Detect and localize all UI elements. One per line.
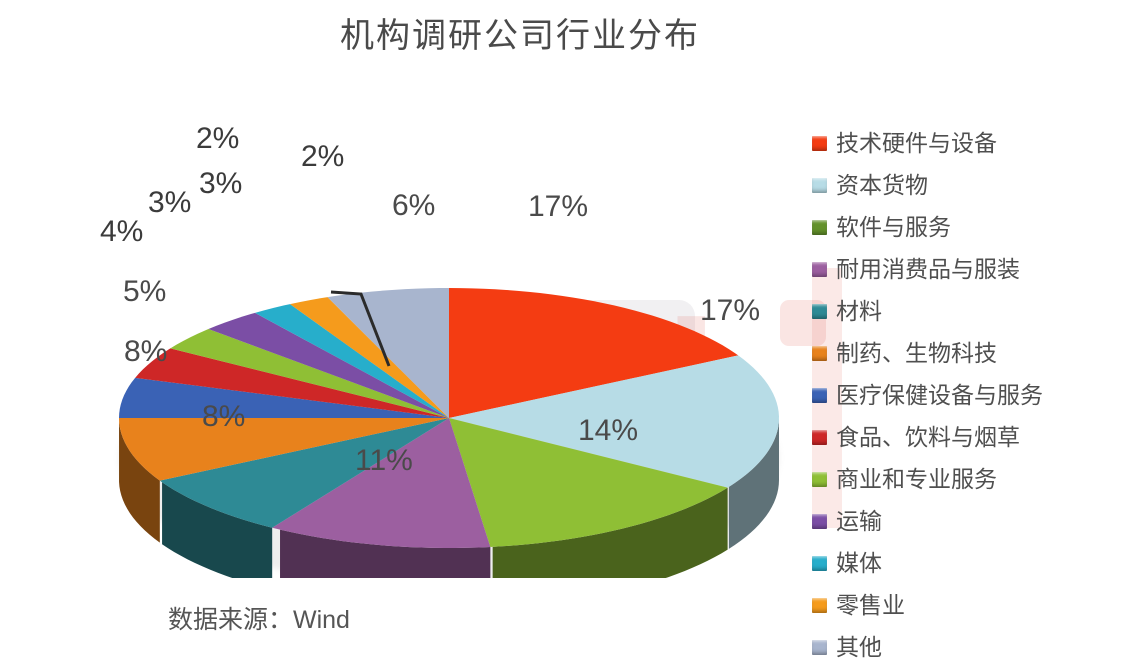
legend-item[interactable]: 零售业 xyxy=(812,584,1132,626)
legend-swatch-icon xyxy=(812,514,827,529)
legend-swatch-icon xyxy=(812,220,827,235)
legend-item-label: 耐用消费品与服装 xyxy=(836,258,1020,281)
legend-item-label: 商业和专业服务 xyxy=(836,468,997,491)
legend-item-label: 医疗保健设备与服务 xyxy=(836,384,1043,407)
legend-item-label: 技术硬件与设备 xyxy=(836,132,997,155)
legend-item[interactable]: 制药、生物科技 xyxy=(812,332,1132,374)
slice-percent-label: 8% xyxy=(202,400,245,434)
legend-swatch-icon xyxy=(812,136,827,151)
slice-percent-label: 6% xyxy=(392,189,435,223)
legend-item-label: 资本货物 xyxy=(836,174,928,197)
legend-swatch-icon xyxy=(812,178,827,193)
legend-swatch-icon xyxy=(812,262,827,277)
legend-item[interactable]: 技术硬件与设备 xyxy=(812,122,1132,164)
legend-swatch-icon xyxy=(812,556,827,571)
legend-item[interactable]: 软件与服务 xyxy=(812,206,1132,248)
legend-item-label: 媒体 xyxy=(836,552,882,575)
source-note: 数据来源：Wind xyxy=(168,600,350,636)
legend-swatch-icon xyxy=(812,388,827,403)
legend-item-label: 软件与服务 xyxy=(836,216,951,239)
legend-item[interactable]: 其他 xyxy=(812,626,1132,668)
legend-swatch-icon xyxy=(812,598,827,613)
slice-percent-label: 2% xyxy=(301,140,344,174)
legend-item[interactable]: 材料 xyxy=(812,290,1132,332)
legend-item[interactable]: 资本货物 xyxy=(812,164,1132,206)
legend-item[interactable]: 耐用消费品与服装 xyxy=(812,248,1132,290)
legend-item[interactable]: 商业和专业服务 xyxy=(812,458,1132,500)
slice-percent-label: 17% xyxy=(700,294,760,328)
slice-percent-label: 8% xyxy=(124,335,167,369)
chart-title: 机构调研公司行业分布 xyxy=(0,8,1040,57)
legend-swatch-icon xyxy=(812,346,827,361)
slice-percent-label: 3% xyxy=(199,167,242,201)
legend-item[interactable]: 医疗保健设备与服务 xyxy=(812,374,1132,416)
legend-item-label: 制药、生物科技 xyxy=(836,342,997,365)
legend-item-label: 零售业 xyxy=(836,594,905,617)
legend-item-label: 运输 xyxy=(836,510,882,533)
leader-line xyxy=(327,286,457,396)
legend-swatch-icon xyxy=(812,472,827,487)
slice-percent-label: 17% xyxy=(528,190,588,224)
legend-item-label: 材料 xyxy=(836,300,882,323)
slice-percent-label: 14% xyxy=(578,414,638,448)
legend-item-label: 食品、饮料与烟草 xyxy=(836,426,1020,449)
slice-percent-label: 4% xyxy=(100,215,143,249)
slice-percent-label: 11% xyxy=(355,444,413,478)
legend-item-label: 其他 xyxy=(836,636,882,659)
legend-item[interactable]: 食品、饮料与烟草 xyxy=(812,416,1132,458)
legend-item[interactable]: 运输 xyxy=(812,500,1132,542)
legend-swatch-icon xyxy=(812,304,827,319)
legend: 技术硬件与设备资本货物软件与服务耐用消费品与服装材料制药、生物科技医疗保健设备与… xyxy=(812,122,1132,668)
slice-percent-label: 3% xyxy=(148,186,191,220)
chart-canvas: Wind 机构调研公司行业分布 技术硬件与设备 17%资本货物 17%软件与服务… xyxy=(0,0,1141,670)
pie-chart: 技术硬件与设备 17%资本货物 17%软件与服务 14%耐用消费品与服装 11%… xyxy=(97,158,797,578)
legend-swatch-icon xyxy=(812,640,827,655)
legend-item[interactable]: 媒体 xyxy=(812,542,1132,584)
legend-swatch-icon xyxy=(812,430,827,445)
slice-percent-label: 2% xyxy=(196,122,239,156)
slice-percent-label: 5% xyxy=(123,275,166,309)
